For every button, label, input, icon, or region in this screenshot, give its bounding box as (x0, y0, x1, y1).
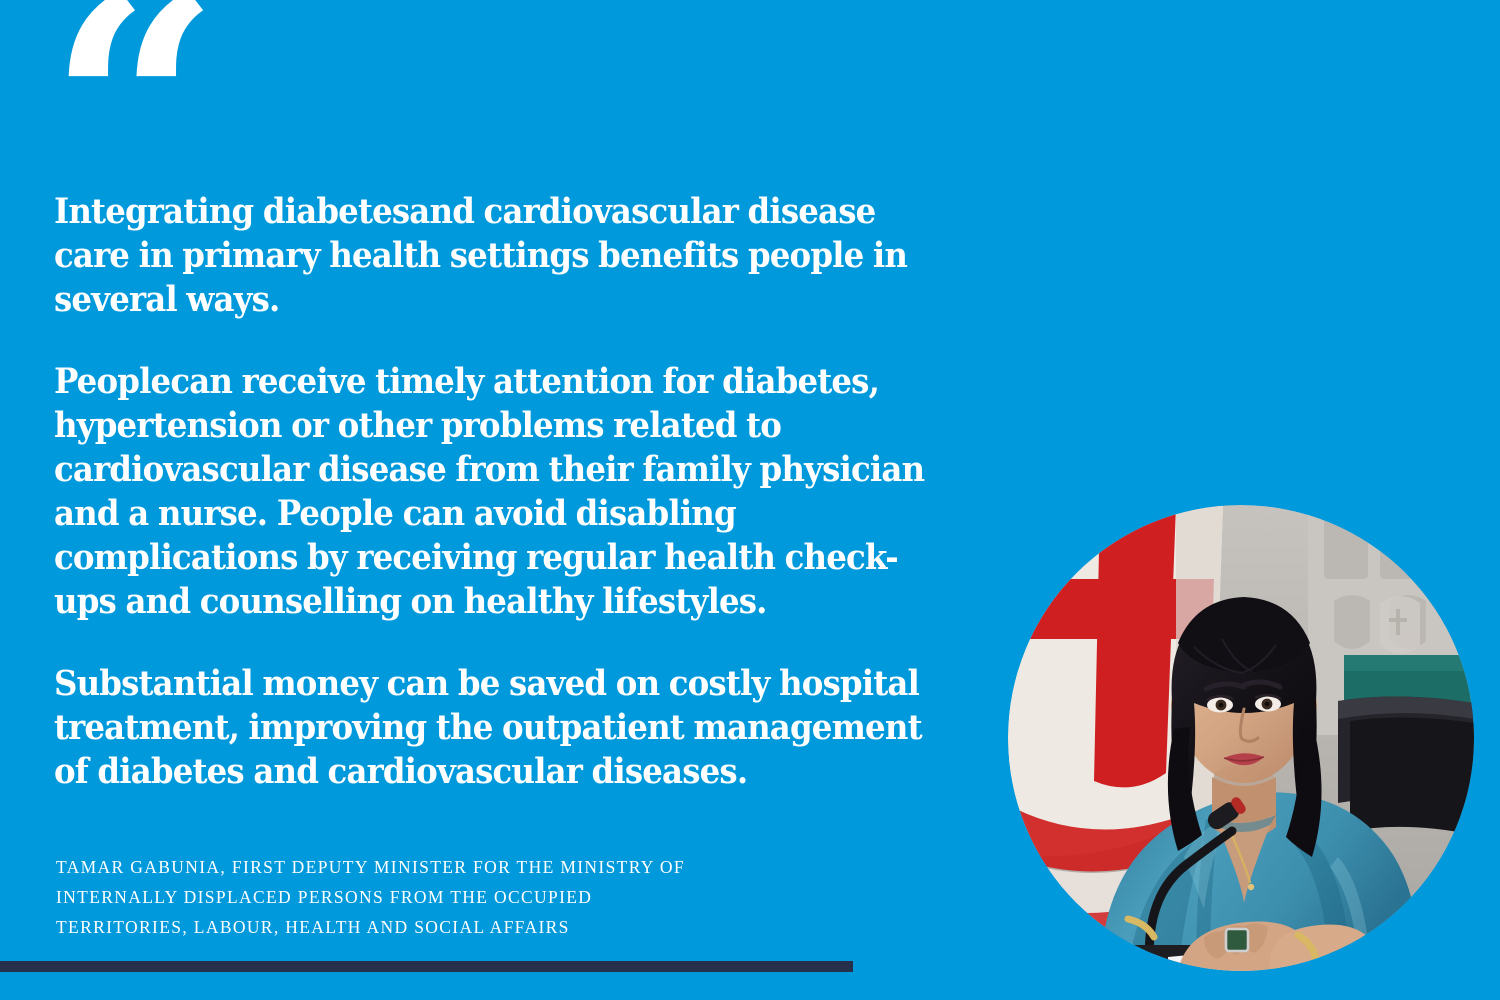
attribution-line-1: TAMAR GABUNIA, FIRST DEPUTY MINISTER FOR… (56, 852, 916, 882)
quote-paragraph-3: Substantial money can be saved on costly… (54, 662, 947, 794)
attribution-line-2: INTERNALLY DISPLACED PERSONS FROM THE OC… (56, 882, 916, 912)
quote-card: “ Integrating diabetesand cardiovascular… (0, 0, 1500, 1000)
bottom-rule-divider (0, 961, 853, 972)
quote-text-block: Integrating diabetesand cardiovascular d… (54, 190, 1004, 794)
quote-paragraph-1: Integrating diabetesand cardiovascular d… (54, 190, 947, 322)
attribution-line-3: TERRITORIES, LABOUR, HEALTH AND SOCIAL A… (56, 912, 916, 942)
speaker-portrait-avatar (1008, 505, 1474, 971)
quote-paragraph-2: Peoplecan receive timely attention for d… (54, 360, 947, 624)
attribution: TAMAR GABUNIA, FIRST DEPUTY MINISTER FOR… (56, 852, 916, 942)
portrait-illustration (1008, 505, 1474, 971)
